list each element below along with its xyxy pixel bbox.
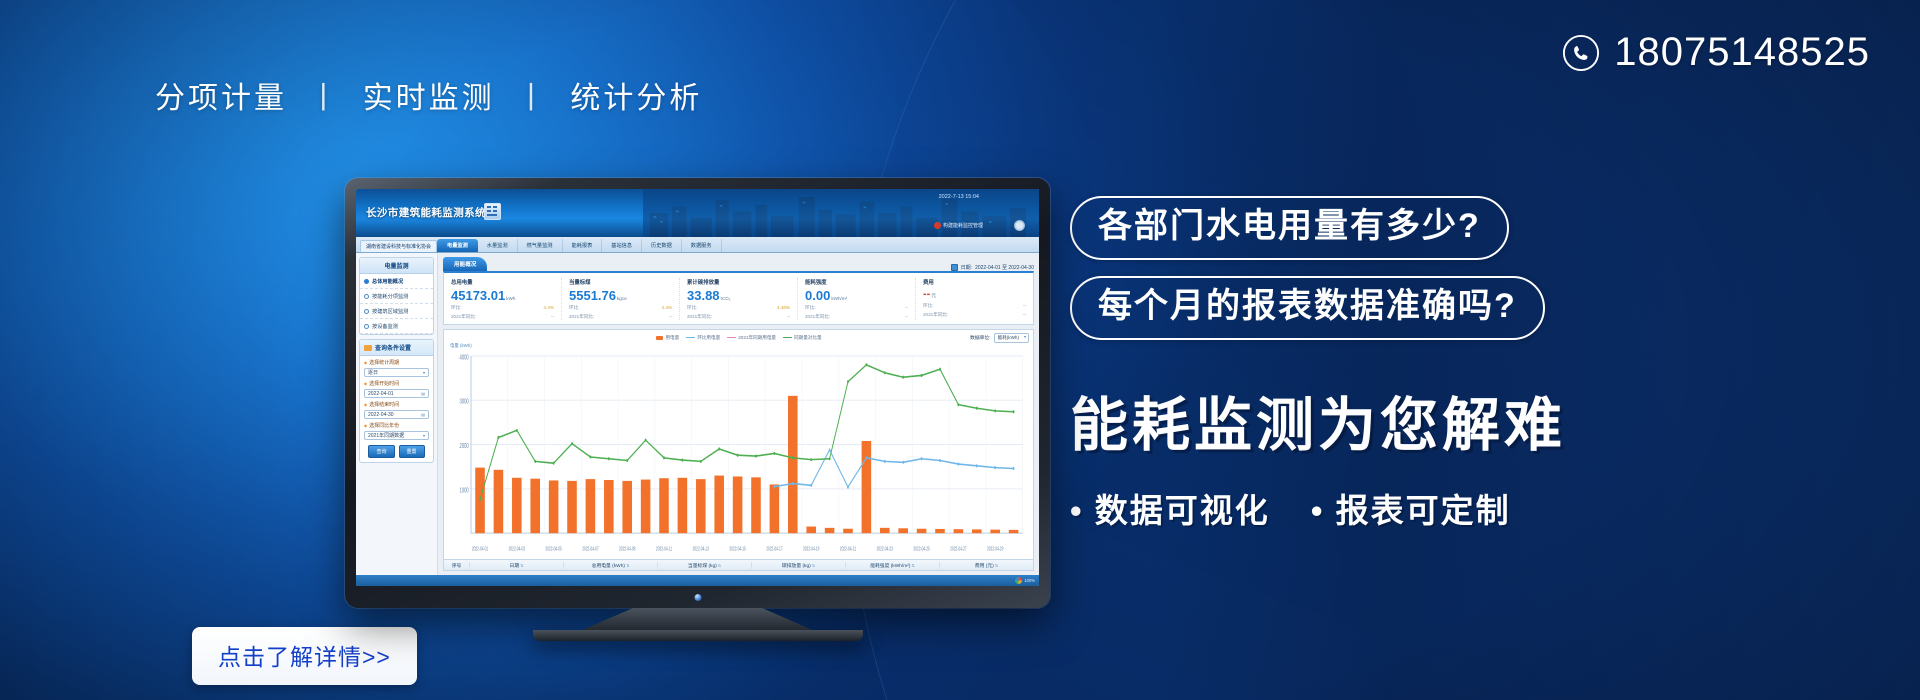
cta-label: 点击了解详情>> bbox=[218, 644, 391, 670]
kpi-value: 33.88 bbox=[687, 288, 720, 303]
calendar-icon: ▤ bbox=[421, 391, 425, 396]
kpi-value-wrap: 5551.76kgce bbox=[569, 289, 672, 302]
tab-station-info[interactable]: 基站信息 bbox=[602, 239, 642, 252]
app-header: 长沙市建筑能耗监测系统 2022-7-13 15:04 构建能耗监控管理 bbox=[356, 189, 1039, 237]
filter-label: 选择结束时间 bbox=[364, 401, 429, 408]
chart-legend: 用电量 环比用电量 2021年同期用电量 bbox=[656, 335, 821, 341]
kpi-unit: kWh bbox=[506, 296, 515, 301]
sort-icon: ⇅ bbox=[520, 563, 523, 568]
legend-label: 环比用电量 bbox=[697, 335, 720, 341]
kpi-compare-row: 环比: -- bbox=[805, 305, 908, 311]
sort-icon: ⇅ bbox=[718, 563, 721, 568]
sidebar-item-label: 按设备监测 bbox=[372, 323, 398, 330]
city-skyline-graphic bbox=[643, 189, 1039, 237]
svg-text:3000: 3000 bbox=[460, 398, 469, 405]
tab-report[interactable]: 能耗报表 bbox=[563, 239, 603, 252]
kpi-title: 当量标煤 bbox=[569, 278, 672, 286]
bullet-icon bbox=[364, 279, 369, 284]
chart-plot-area: 10002000300040002022-04-012022-04-032022… bbox=[448, 349, 1029, 558]
kpi-card-energy-intensity: 能耗强度 0.00kWh/m² 环比: -- 2021年同比: bbox=[798, 278, 916, 320]
chevron-down-icon: ▾ bbox=[423, 433, 425, 438]
filter-field-yoy: 选择同比年份 2021年同期数据 ▾ bbox=[360, 419, 433, 440]
kpi-cmp-label: 环比: bbox=[569, 305, 579, 311]
browser-icon bbox=[1015, 577, 1022, 584]
date-range-display[interactable]: 日期: 2022-04-01 至 2022-04-30 bbox=[951, 264, 1034, 271]
kpi-card-carbon-emission: 累计碳排放量 33.88tCO₂ 环比: 4.46% 2021年同比: bbox=[680, 278, 798, 320]
kpi-yoy-label: 2021年同比: bbox=[805, 314, 830, 320]
start-date-input[interactable]: 2022-04-01 ▤ bbox=[364, 389, 429, 398]
gear-icon[interactable] bbox=[1014, 220, 1025, 231]
query-button[interactable]: 查询 bbox=[368, 445, 394, 458]
col-label: 碳排放量 (kg) bbox=[782, 564, 811, 569]
kpi-value: -- bbox=[923, 288, 930, 300]
sort-icon: ⇅ bbox=[911, 563, 914, 568]
kpi-unit: kgce bbox=[617, 296, 627, 301]
sidebar-item-label: 按能耗分项监测 bbox=[372, 293, 408, 300]
table-col-carbon[interactable]: 碳排放量 (kg)⇅ bbox=[752, 562, 846, 569]
period-select[interactable]: 逐日 ▾ bbox=[364, 368, 429, 377]
sort-icon: ⇅ bbox=[995, 563, 998, 568]
kpi-cmp-value: -- bbox=[905, 305, 908, 310]
kpi-yoy-row: 2021年同比: -- bbox=[451, 314, 554, 320]
chevron-down-icon: ▾ bbox=[423, 370, 425, 375]
tab-data-service[interactable]: 数据服务 bbox=[682, 239, 722, 252]
monitor-stand-base bbox=[533, 630, 863, 641]
svg-text:2022-04-05: 2022-04-05 bbox=[545, 545, 562, 551]
svg-text:2022-04-11: 2022-04-11 bbox=[656, 545, 673, 551]
kpi-cmp-value: 4.4% bbox=[544, 305, 554, 310]
filter-header: 查询条件设置 bbox=[360, 340, 433, 356]
sidebar-item-label: 总体用能概况 bbox=[372, 278, 403, 285]
phone-circle-icon bbox=[1562, 34, 1600, 72]
kpi-yoy-row: 2021年同比: -- bbox=[805, 314, 908, 320]
question-pill-1: 各部门水电用量有多少? bbox=[1070, 196, 1509, 260]
svg-text:2022-04-09: 2022-04-09 bbox=[619, 545, 636, 551]
marketing-copy: 各部门水电用量有多少? 每个月的报表数据准确吗? 能耗监测为您解难 • 数据可视… bbox=[1070, 196, 1690, 532]
legend-item-yoy[interactable]: 2021年同期用电量 bbox=[727, 335, 776, 341]
contact-phone[interactable]: 18075148525 bbox=[1562, 30, 1870, 75]
kpi-value: 0.00 bbox=[805, 288, 830, 303]
kpi-compare-row: 环比: 4.4% bbox=[569, 305, 672, 311]
data-unit-selector[interactable]: 数据单位: 能耗(kWh) bbox=[970, 333, 1029, 343]
legend-line-icon bbox=[727, 337, 736, 338]
filter-label: 选择统计周期 bbox=[364, 359, 429, 366]
col-label: 日期 bbox=[510, 564, 520, 569]
kpi-yoy-label: 2021年同比: bbox=[923, 312, 948, 318]
filter-field-start: 选择开始时间 2022-04-01 ▤ bbox=[360, 377, 433, 398]
tab-brand[interactable]: 湖南省建设科技与标准化协会 bbox=[360, 240, 437, 252]
table-col-date[interactable]: 日期⇅ bbox=[470, 562, 564, 569]
monitor-mockup: 长沙市建筑能耗监测系统 2022-7-13 15:04 构建能耗监控管理 bbox=[345, 178, 1050, 641]
sort-icon: ⇅ bbox=[812, 563, 815, 568]
svg-text:2022-04-25: 2022-04-25 bbox=[913, 545, 930, 551]
tagline-part-1: 分项计量 bbox=[155, 82, 287, 115]
calendar-icon: ▤ bbox=[421, 412, 425, 417]
sidebar: 电量监测 总体用能概况 按能耗分项监测 按建筑区域监 bbox=[356, 253, 438, 575]
kpi-compare-row: 环比: 4.46% bbox=[687, 305, 790, 311]
kpi-row: 总用电量 45173.01kWh 环比: 4.4% 2021年同比: bbox=[443, 271, 1034, 325]
tab-history[interactable]: 历史数据 bbox=[642, 239, 682, 252]
legend-item-mom[interactable]: 环比用电量 bbox=[686, 335, 720, 341]
filter-actions: 查询 重置 bbox=[360, 440, 433, 462]
table-col-cost[interactable]: 费用 (元)⇅ bbox=[940, 562, 1033, 569]
app-title: 长沙市建筑能耗监测系统 bbox=[366, 205, 486, 220]
tagline-part-3: 统计分析 bbox=[570, 82, 702, 115]
headline: 能耗监测为您解难 bbox=[1070, 378, 1690, 462]
kpi-value-wrap: 45173.01kWh bbox=[451, 289, 554, 302]
table-col-intensity[interactable]: 能耗强度 (kWh/m²)⇅ bbox=[846, 562, 940, 569]
svg-text:2022-04-23: 2022-04-23 bbox=[877, 545, 894, 551]
col-label: 费用 (元) bbox=[975, 564, 994, 569]
legend-label: 同期量对比量 bbox=[794, 335, 822, 341]
kpi-cmp-label: 环比: bbox=[451, 305, 461, 311]
table-col-coal[interactable]: 当量标煤 (kg)⇅ bbox=[658, 562, 752, 569]
table-col-index[interactable]: 序号 bbox=[444, 562, 470, 569]
period-value: 逐日 bbox=[368, 369, 378, 376]
phone-number: 18075148525 bbox=[1614, 30, 1870, 75]
col-label: 序号 bbox=[452, 564, 462, 569]
svg-text:2022-04-17: 2022-04-17 bbox=[766, 545, 783, 551]
bullet-1: • 数据可视化 bbox=[1070, 492, 1270, 529]
bullet-2: • 报表可定制 bbox=[1311, 492, 1511, 529]
chart-svg: 10002000300040002022-04-012022-04-032022… bbox=[448, 349, 1029, 558]
svg-text:2022-04-21: 2022-04-21 bbox=[840, 545, 857, 551]
kpi-cmp-label: 环比: bbox=[805, 305, 815, 311]
chart-toolbar: 用电量 环比用电量 2021年同期用电量 bbox=[448, 333, 1029, 343]
app-user-badge[interactable]: 构建能耗监控管理 bbox=[934, 222, 983, 229]
kpi-cmp-value: 4.46% bbox=[777, 305, 790, 310]
legend-label: 用电量 bbox=[665, 335, 679, 341]
filter-field-period: 选择统计周期 逐日 ▾ bbox=[360, 356, 433, 377]
kpi-card-cost: 费用 --元 环比: -- 2021年同比: -- bbox=[916, 278, 1033, 320]
filter-icon bbox=[364, 345, 372, 351]
tab-water[interactable]: 水量监测 bbox=[478, 239, 518, 252]
app-datetime: 2022-7-13 15:04 bbox=[939, 194, 979, 200]
tab-gas[interactable]: 燃气量监测 bbox=[518, 239, 563, 252]
banner-tagline: 分项计量 丨 实时监测 丨 统计分析 bbox=[155, 73, 702, 117]
tagline-part-2: 实时监测 bbox=[363, 82, 495, 115]
sidebar-header: 电量监测 bbox=[360, 258, 433, 274]
svg-text:2022-04-13: 2022-04-13 bbox=[693, 545, 710, 551]
yoy-value: 2021年同期数据 bbox=[368, 432, 404, 439]
sidebar-item-label: 按建筑区域监测 bbox=[372, 308, 408, 315]
kpi-value-wrap: --元 bbox=[923, 289, 1026, 300]
svg-text:4000: 4000 bbox=[460, 354, 469, 361]
app-tab-bar: 湖南省建设科技与标准化协会 电量监测 水量监测 燃气量监测 能耗报表 基站信息 … bbox=[356, 237, 1039, 253]
legend-item-compare[interactable]: 同期量对比量 bbox=[783, 335, 822, 341]
data-table-header: 序号 日期⇅ 总用电量 (kWh)⇅ 当量标煤 (kg)⇅ 碳排放量 (kg)⇅… bbox=[443, 560, 1034, 571]
kpi-yoy-value: -- bbox=[1023, 312, 1026, 317]
kpi-value: 45173.01 bbox=[451, 288, 505, 303]
legend-line-icon bbox=[783, 337, 792, 338]
app-logo-icon bbox=[484, 203, 501, 220]
date-range-value: 2022-04-01 至 2022-04-30 bbox=[975, 264, 1034, 271]
kpi-value-wrap: 0.00kWh/m² bbox=[805, 289, 908, 302]
tab-electricity[interactable]: 电量监测 bbox=[437, 239, 478, 252]
kpi-card-total-electricity: 总用电量 45173.01kWh 环比: 4.4% 2021年同比: bbox=[444, 278, 562, 320]
zoom-level: 100% bbox=[1024, 578, 1035, 583]
kpi-yoy-label: 2021年同比: bbox=[569, 314, 594, 320]
start-date-value: 2022-04-01 bbox=[368, 391, 394, 397]
panel-tab-overview[interactable]: 用能概况 bbox=[443, 257, 487, 271]
kpi-compare-row: 环比: -- bbox=[923, 303, 1026, 309]
bullet-icon bbox=[364, 294, 369, 299]
sidebar-item-by-category[interactable]: 按能耗分项监测 bbox=[360, 289, 433, 304]
kpi-value-wrap: 33.88tCO₂ bbox=[687, 289, 790, 302]
sidebar-item-overview[interactable]: 总体用能概况 bbox=[360, 274, 433, 289]
question-text-2: 每个月的报表数据准确吗? bbox=[1098, 287, 1517, 325]
question-text-1: 各部门水电用量有多少? bbox=[1098, 207, 1481, 245]
panel-header-row: 用能概况 日期: 2022-04-01 至 2022-04-30 bbox=[443, 257, 1034, 271]
svg-text:2022-04-19: 2022-04-19 bbox=[803, 545, 820, 551]
kpi-yoy-row: 2021年同比: -- bbox=[569, 314, 672, 320]
date-label: 日期: bbox=[961, 264, 972, 271]
legend-label: 2021年同期用电量 bbox=[738, 335, 776, 341]
kpi-unit: kWh/m² bbox=[831, 296, 847, 301]
kpi-compare-row: 环比: 4.4% bbox=[451, 305, 554, 311]
user-avatar-icon bbox=[934, 222, 941, 229]
kpi-title: 能耗强度 bbox=[805, 278, 908, 286]
kpi-cmp-label: 环比: bbox=[687, 305, 697, 311]
kpi-card-standard-coal: 当量标煤 5551.76kgce 环比: 4.4% 2021年同比: bbox=[562, 278, 680, 320]
monitor-bezel: 长沙市建筑能耗监测系统 2022-7-13 15:04 构建能耗监控管理 bbox=[345, 178, 1050, 608]
kpi-yoy-value: -- bbox=[905, 314, 908, 319]
svg-text:1000: 1000 bbox=[460, 487, 469, 494]
kpi-yoy-row: 2021年同比: -- bbox=[923, 312, 1026, 318]
table-col-total[interactable]: 总用电量 (kWh)⇅ bbox=[564, 562, 658, 569]
reset-button[interactable]: 重置 bbox=[399, 445, 425, 458]
tagline-separator-1: 丨 bbox=[308, 82, 341, 115]
sidebar-item-by-area[interactable]: 按建筑区域监测 bbox=[360, 304, 433, 319]
kpi-title: 累计碳排放量 bbox=[687, 278, 790, 286]
tagline-separator-2: 丨 bbox=[516, 82, 549, 115]
col-label: 能耗强度 (kWh/m²) bbox=[870, 564, 910, 569]
filter-field-end: 选择结束时间 2022-04-30 ▤ bbox=[360, 398, 433, 419]
kpi-cmp-value: -- bbox=[1023, 303, 1026, 308]
legend-swatch-icon bbox=[656, 336, 663, 340]
sidebar-nav-panel: 电量监测 总体用能概况 按能耗分项监测 按建筑区域监 bbox=[359, 257, 434, 335]
energy-chart-panel: 用电量 环比用电量 2021年同期用电量 bbox=[443, 329, 1034, 561]
sort-icon: ⇅ bbox=[626, 563, 629, 568]
feature-bullets: • 数据可视化 • 报表可定制 bbox=[1070, 484, 1690, 532]
kpi-unit: tCO₂ bbox=[721, 296, 731, 301]
svg-text:2022-04-07: 2022-04-07 bbox=[582, 545, 599, 551]
filter-label: 选择同比年份 bbox=[364, 422, 429, 429]
kpi-yoy-label: 2021年同比: bbox=[451, 314, 476, 320]
kpi-yoy-value: -- bbox=[787, 314, 790, 319]
legend-item-usage[interactable]: 用电量 bbox=[656, 335, 679, 341]
unit-label: 数据单位: bbox=[970, 334, 991, 341]
unit-select-value: 能耗(kWh) bbox=[994, 333, 1029, 343]
svg-text:2022-04-27: 2022-04-27 bbox=[950, 545, 967, 551]
filter-panel: 查询条件设置 选择统计周期 逐日 ▾ 选择开始时间 bbox=[359, 339, 434, 463]
bullet-icon bbox=[364, 309, 369, 314]
kpi-cmp-value: 4.4% bbox=[662, 305, 672, 310]
question-pill-2: 每个月的报表数据准确吗? bbox=[1070, 276, 1545, 340]
kpi-yoy-value: -- bbox=[669, 314, 672, 319]
calendar-icon bbox=[951, 264, 958, 271]
app-user-name: 构建能耗监控管理 bbox=[943, 222, 983, 229]
kpi-title: 总用电量 bbox=[451, 278, 554, 286]
kpi-value: 5551.76 bbox=[569, 288, 616, 303]
app-status-bar: 100% bbox=[356, 575, 1039, 586]
kpi-yoy-row: 2021年同比: -- bbox=[687, 314, 790, 320]
svg-text:2022-04-29: 2022-04-29 bbox=[987, 545, 1004, 551]
app-body: 电量监测 总体用能概况 按能耗分项监测 按建筑区域监 bbox=[356, 253, 1039, 575]
sidebar-item-by-device[interactable]: 按设备监测 bbox=[360, 319, 433, 334]
bullet-icon bbox=[364, 324, 369, 329]
filter-label: 选择开始时间 bbox=[364, 380, 429, 387]
end-date-input[interactable]: 2022-04-30 ▤ bbox=[364, 410, 429, 419]
svg-text:2022-04-01: 2022-04-01 bbox=[472, 545, 489, 551]
yoy-select[interactable]: 2021年同期数据 ▾ bbox=[364, 431, 429, 440]
legend-line-icon bbox=[686, 337, 695, 338]
kpi-yoy-label: 2021年同比: bbox=[687, 314, 712, 320]
filter-header-label: 查询条件设置 bbox=[375, 343, 411, 352]
kpi-cmp-label: 环比: bbox=[923, 303, 933, 309]
monitor-stand bbox=[583, 608, 813, 630]
svg-text:2022-04-03: 2022-04-03 bbox=[509, 545, 526, 551]
kpi-yoy-value: -- bbox=[551, 314, 554, 319]
col-label: 当量标煤 (kg) bbox=[688, 564, 717, 569]
col-label: 总用电量 (kWh) bbox=[592, 564, 625, 569]
end-date-value: 2022-04-30 bbox=[368, 412, 394, 418]
monitor-screen: 长沙市建筑能耗监测系统 2022-7-13 15:04 构建能耗监控管理 bbox=[356, 189, 1039, 586]
svg-text:2022-04-15: 2022-04-15 bbox=[729, 545, 746, 551]
svg-text:2000: 2000 bbox=[460, 443, 469, 450]
energy-monitoring-app: 长沙市建筑能耗监测系统 2022-7-13 15:04 构建能耗监控管理 bbox=[356, 189, 1039, 586]
kpi-title: 费用 bbox=[923, 278, 1026, 286]
kpi-unit: 元 bbox=[931, 293, 936, 298]
main-content: 用能概况 日期: 2022-04-01 至 2022-04-30 总用电量 bbox=[438, 253, 1039, 575]
